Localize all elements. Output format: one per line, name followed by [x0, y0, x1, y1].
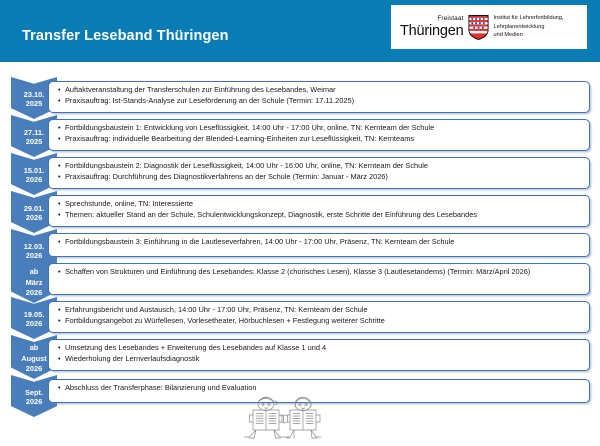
timeline-date-year: 2026: [26, 175, 42, 184]
logo-institute-line-1: Institut für Lehrerfortbildung,: [494, 14, 564, 23]
timeline-date-year: 2026: [26, 397, 42, 406]
timeline-bullet: Auftaktveranstaltung der Transferschulen…: [58, 85, 582, 96]
logo-wordmark: Freistaat Thüringen: [400, 16, 464, 38]
logo-institute-line-3: und Medien: [494, 31, 564, 40]
timeline-date-primary: 19.05.: [24, 310, 45, 319]
timeline-bullet: Schaffen von Strukturen und Einführung d…: [58, 267, 582, 278]
timeline-date-month: August: [21, 354, 46, 363]
logo-state-label: Thüringen: [400, 24, 464, 39]
timeline-date-primary: ab: [30, 267, 39, 276]
logo-institute-text: Institut für Lehrerfortbildung, Lehrplan…: [494, 14, 564, 40]
timeline-date-year: 2025: [26, 137, 42, 146]
timeline-date-month: März: [26, 278, 43, 287]
timeline-card: Fortbildungsbaustein 1: Entwicklung von …: [48, 119, 590, 151]
timeline-date-primary: 12.03.: [24, 242, 45, 251]
logo-institute-line-2: Lehrplanentwicklung: [494, 23, 564, 32]
timeline-bullet: Praxisauftrag: Durchführung des Diagnost…: [58, 172, 582, 183]
timeline-bullet: Wiederholung der Lernverlaufsdiagnostik: [58, 354, 582, 365]
timeline: 23.10. 2025 Auftaktveranstaltung der Tra…: [0, 62, 600, 446]
timeline-date-primary: Sept.: [25, 388, 43, 397]
timeline-bullet: Praxisauftrag: Ist-Stands-Analyse zur Le…: [58, 96, 582, 107]
timeline-date-primary: 15.01.: [24, 166, 45, 175]
timeline-date-year: 2026: [26, 213, 42, 222]
timeline-card: Schaffen von Strukturen und Einführung d…: [48, 263, 590, 295]
timeline-card: Fortbildungsbaustein 3: Einführung in di…: [48, 233, 590, 257]
logo-freistaat-label: Freistaat: [437, 16, 463, 23]
timeline-bullet: Themen: aktueller Stand an der Schule, S…: [58, 210, 582, 221]
timeline-date-year: 2025: [26, 99, 42, 108]
timeline-date-year: 2026: [26, 319, 42, 328]
page-header: Transfer Leseband Thüringen Freistaat Th…: [0, 0, 600, 62]
timeline-card: Fortbildungsbaustein 2: Diagnostik der L…: [48, 157, 590, 189]
timeline-bullet: Praxisauftrag: individuelle Bearbeitung …: [58, 134, 582, 145]
thueringen-logo: Freistaat Thüringen: [391, 5, 587, 49]
timeline-date-year: 2026: [26, 364, 42, 373]
timeline-card: Umsetzung des Lesebandes + Erweiterung d…: [48, 339, 590, 371]
two-children-reading-books-illustration: [231, 396, 341, 444]
timeline-card: Erfahrungsbericht und Austausch, 14:00 U…: [48, 301, 590, 333]
timeline-card: Sprechstunde, online, TN: Interessierte …: [48, 195, 590, 227]
timeline-bullet: Abschluss der Transferphase: Bilanzierun…: [58, 383, 582, 394]
timeline-card: Auftaktveranstaltung der Transferschulen…: [48, 81, 590, 113]
timeline-date-primary: 23.10.: [24, 90, 45, 99]
timeline-bullet: Fortbildungsangebot zu Würfellesen, Vorl…: [58, 316, 582, 327]
timeline-date-primary: 27.11.: [24, 128, 44, 137]
timeline-bullet: Fortbildungsbaustein 3: Einführung in di…: [58, 237, 582, 248]
timeline-bullet: Umsetzung des Lesebandes + Erweiterung d…: [58, 343, 582, 354]
timeline-bullet: Fortbildungsbaustein 1: Entwicklung von …: [58, 123, 582, 134]
timeline-date-primary: ab: [30, 343, 39, 352]
timeline-bullet: Erfahrungsbericht und Austausch, 14:00 U…: [58, 305, 582, 316]
timeline-bullet: Fortbildungsbaustein 2: Diagnostik der L…: [58, 161, 582, 172]
thuringia-coat-of-arms-icon: [468, 15, 489, 40]
timeline-date-primary: 29.01.: [24, 204, 45, 213]
page-title: Transfer Leseband Thüringen: [22, 28, 229, 44]
timeline-date-year: 2026: [26, 288, 42, 297]
timeline-bullet: Sprechstunde, online, TN: Interessierte: [58, 199, 582, 210]
